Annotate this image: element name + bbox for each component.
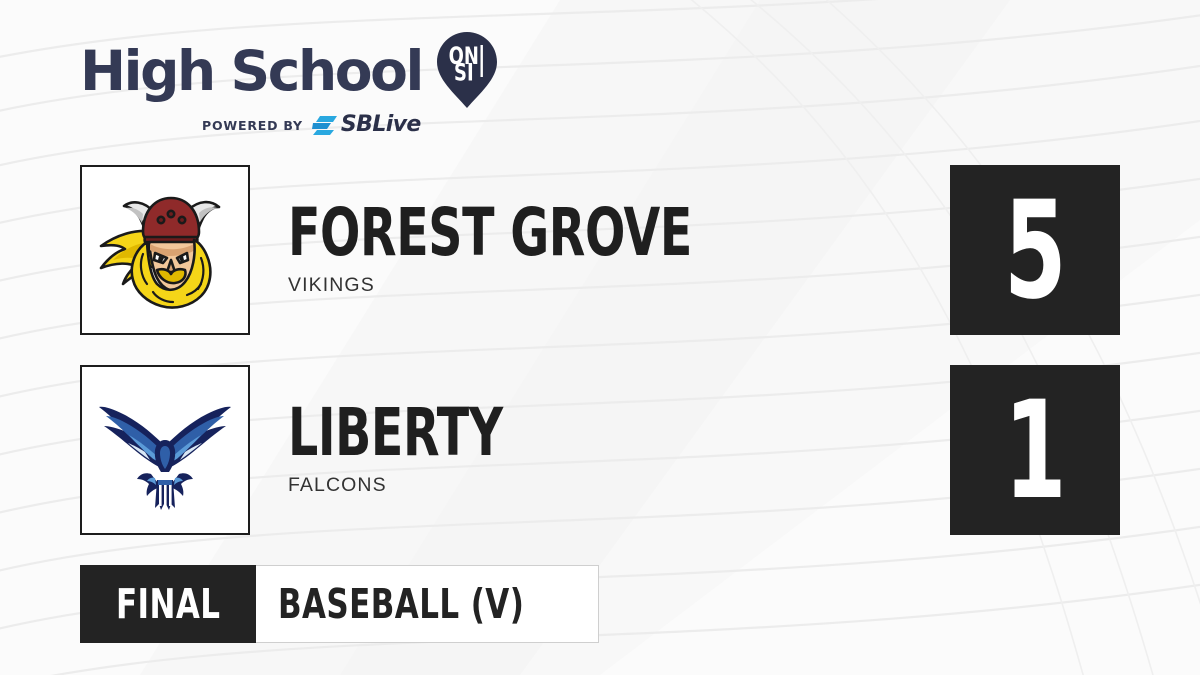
status-sport-panel: BASEBALL (V) [256, 565, 598, 643]
falcon-mascot-icon [95, 380, 235, 520]
powered-by-label: POWERED BY [202, 118, 303, 133]
sblive-swoosh-icon [312, 115, 338, 136]
team-logo-card [80, 365, 250, 535]
sblive-wordmark: SBLive [341, 114, 421, 136]
status-state-label: FINAL [116, 584, 220, 625]
svg-text:SI: SI [454, 60, 474, 87]
status-state-badge: FINAL [80, 565, 256, 643]
viking-head-mascot-icon [95, 180, 235, 320]
team-text-block: FOREST GROVE VIKINGS [288, 203, 793, 297]
brand-wordmark: High School [80, 46, 422, 97]
score-box: 5 [950, 165, 1120, 335]
score-value: 5 [1004, 183, 1067, 318]
team-name: LIBERTY [288, 403, 503, 464]
powered-by-row: POWERED BY SBLive [202, 114, 498, 136]
team-mascot: FALCONS [288, 474, 557, 497]
team-mascot: VIKINGS [288, 274, 793, 297]
sblive-wordmark-bold: SBL [341, 112, 386, 137]
on-si-pin-icon: ON SI [436, 31, 498, 109]
status-sport-label: BASEBALL (V) [278, 584, 524, 625]
team-name: FOREST GROVE [288, 203, 692, 264]
sblive-logo: SBLive [312, 114, 421, 136]
team-text-block: LIBERTY FALCONS [288, 403, 557, 497]
game-status-bar: FINAL BASEBALL (V) [80, 565, 599, 643]
team-row: LIBERTY FALCONS [80, 365, 557, 535]
brand-header: High School ON SI POWERED BY SBLive [80, 34, 498, 136]
sblive-wordmark-light: ive [386, 112, 421, 137]
team-logo-card [80, 165, 250, 335]
brand-logo-row: High School ON SI [80, 34, 498, 109]
score-box: 1 [950, 365, 1120, 535]
team-row: FOREST GROVE VIKINGS [80, 165, 793, 335]
score-value: 1 [1004, 383, 1067, 518]
